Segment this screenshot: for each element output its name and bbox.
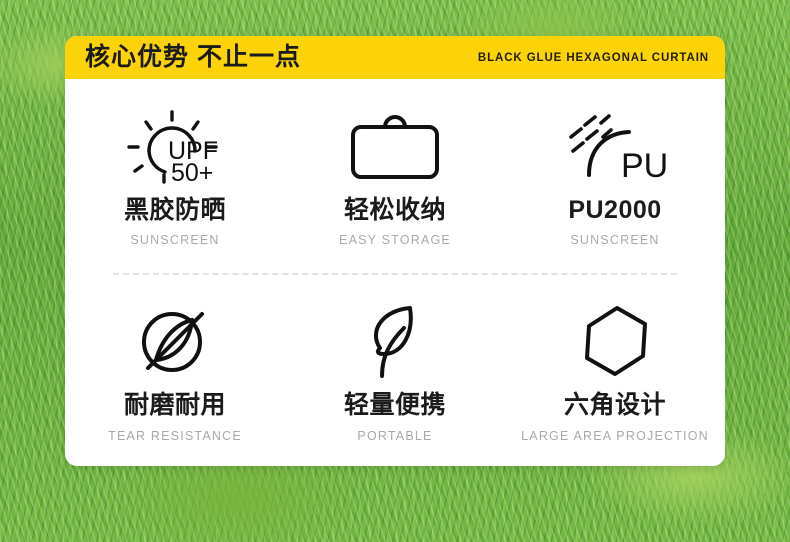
feature-row-top: UPF 50+ 黑胶防晒 SUNSCREEN <box>65 79 725 273</box>
feature-title: PU2000 <box>568 197 661 225</box>
feature-cell-storage: 轻松收纳 EASY STORAGE <box>285 79 505 273</box>
sun-upf-icon: UPF 50+ <box>119 105 231 189</box>
tear-resistance-icon <box>132 300 218 384</box>
svg-text:50+: 50+ <box>171 159 213 187</box>
feature-cell-hexagon: 六角设计 LARGE AREA PROJECTION <box>505 275 725 467</box>
feature-subtitle: TEAR RESISTANCE <box>108 429 242 443</box>
header-title: 核心优势 不止一点 <box>85 45 301 70</box>
feature-subtitle: SUNSCREEN <box>130 233 219 247</box>
feature-title: 黑胶防晒 <box>124 197 226 225</box>
feature-title: 轻松收纳 <box>344 197 446 225</box>
infographic-stage: 核心优势 不止一点 BLACK GLUE HEXAGONAL CURTAIN <box>0 0 790 542</box>
feature-subtitle: LARGE AREA PROJECTION <box>521 429 709 443</box>
storage-bag-icon <box>347 105 443 189</box>
feature-cell-pu: PU PU2000 SUNSCREEN <box>505 79 725 273</box>
header-subtitle: BLACK GLUE HEXAGONAL CURTAIN <box>478 52 709 64</box>
feature-title: 轻量便携 <box>344 392 446 420</box>
feature-subtitle: EASY STORAGE <box>339 233 451 247</box>
feature-subtitle: SUNSCREEN <box>570 233 659 247</box>
panel-header: 核心优势 不止一点 BLACK GLUE HEXAGONAL CURTAIN <box>65 36 725 79</box>
rain-pu-icon: PU <box>559 105 671 189</box>
leaf-icon <box>358 300 432 384</box>
feature-cell-portable: 轻量便携 PORTABLE <box>285 275 505 467</box>
feature-subtitle: PORTABLE <box>357 429 432 443</box>
feature-cell-sunscreen: UPF 50+ 黑胶防晒 SUNSCREEN <box>65 79 285 273</box>
feature-title: 耐磨耐用 <box>124 392 226 420</box>
feature-title: 六角设计 <box>564 392 666 420</box>
feature-panel: 核心优势 不止一点 BLACK GLUE HEXAGONAL CURTAIN <box>65 36 725 466</box>
feature-row-bottom: 耐磨耐用 TEAR RESISTANCE 轻量便携 PORTABLE <box>65 275 725 467</box>
feature-cell-tear-resistance: 耐磨耐用 TEAR RESISTANCE <box>65 275 285 467</box>
hexagon-icon <box>573 300 657 384</box>
svg-text:PU: PU <box>621 147 668 185</box>
feature-grid: UPF 50+ 黑胶防晒 SUNSCREEN <box>65 79 725 466</box>
